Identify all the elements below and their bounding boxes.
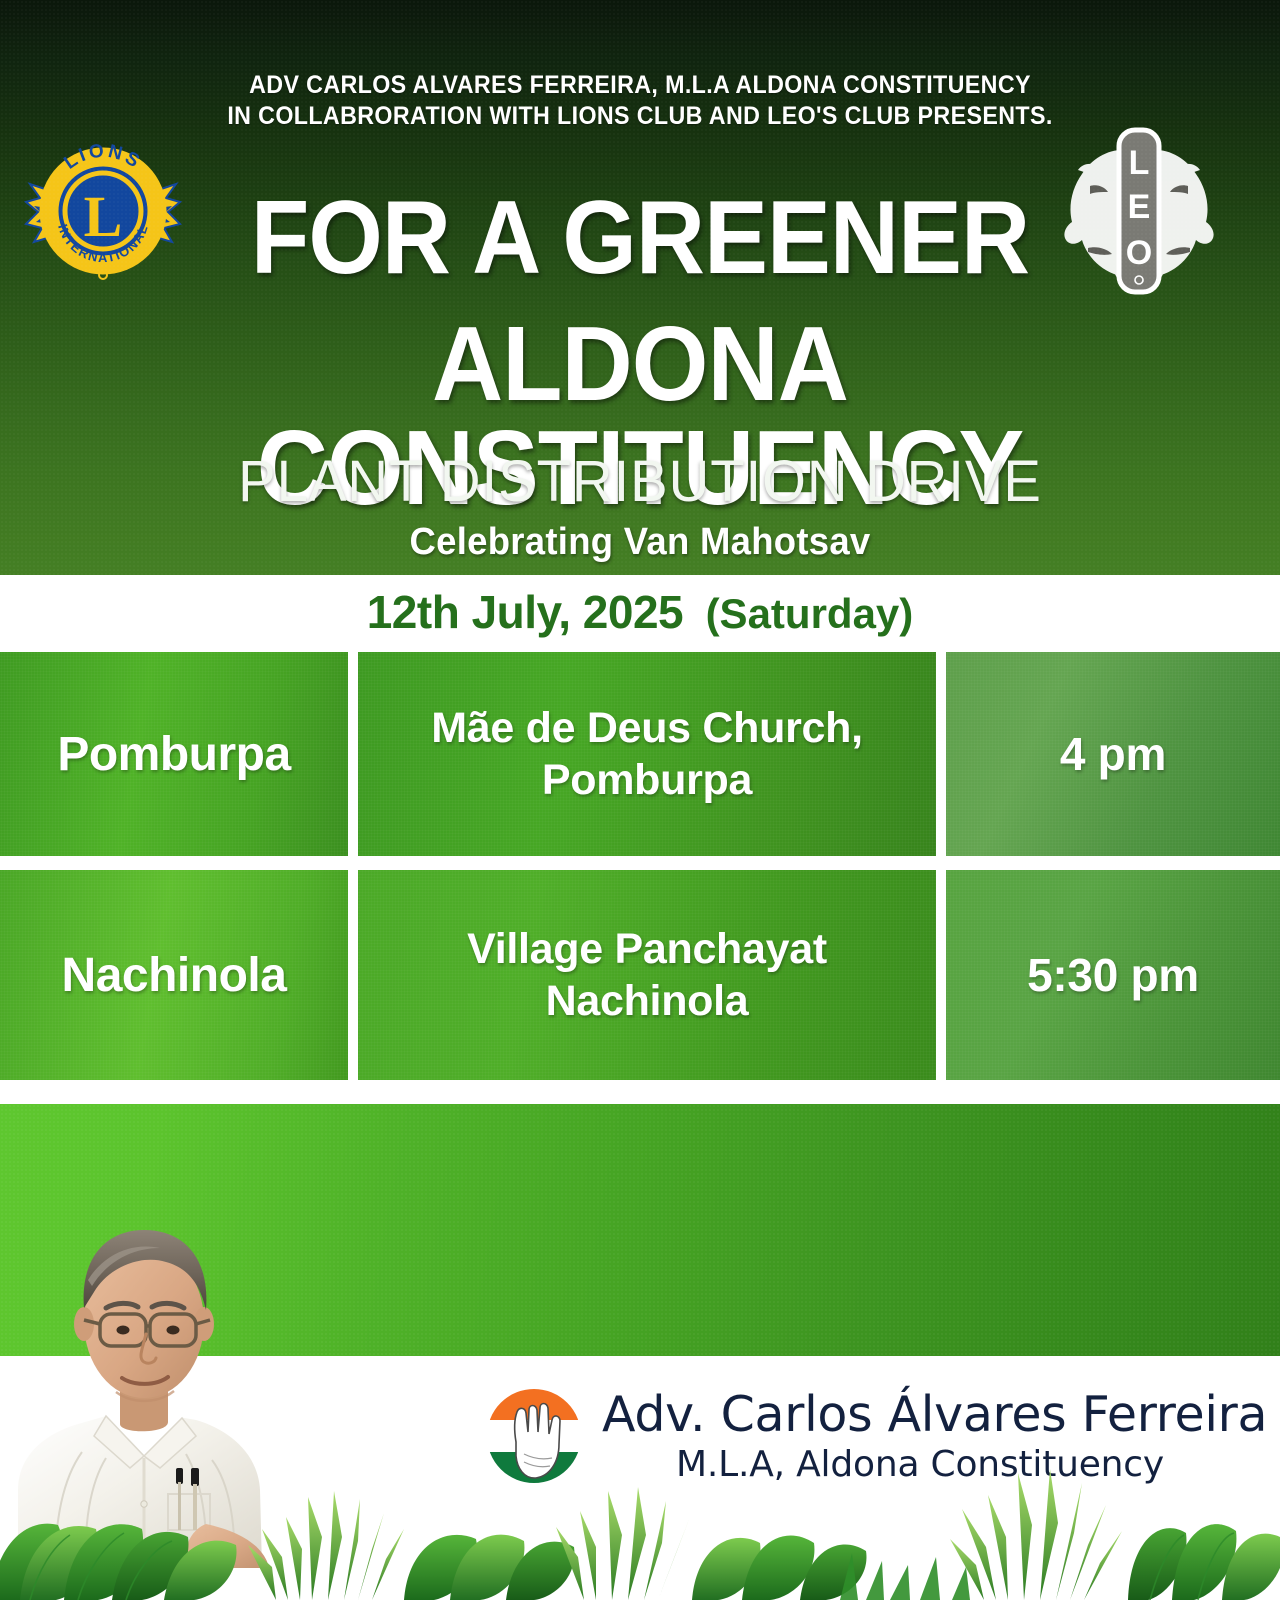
cell-time: 4 pm (946, 652, 1280, 856)
cell-venue: Village Panchayat Nachinola (358, 870, 936, 1080)
signature-block: Adv. Carlos Álvares Ferreira M.L.A, Aldo… (480, 1378, 1180, 1508)
cell-place: Nachinola (0, 870, 348, 1080)
title-line-1: FOR A GREENER (51, 186, 1229, 290)
cell-venue: Mãe de Deus Church, Pomburpa (358, 652, 936, 856)
cell-time: 5:30 pm (946, 870, 1280, 1080)
presenter-line: ADV CARLOS ALVARES FERREIRA, M.L.A ALDON… (45, 70, 1235, 132)
cell-venue-line-2: Pomburpa (431, 754, 863, 806)
table-row: Pomburpa Mãe de Deus Church, Pomburpa 4 … (0, 652, 1280, 856)
svg-text:L: L (1129, 144, 1150, 182)
event-day: (Saturday) (706, 590, 914, 637)
event-date: 12th July, 2025 (367, 586, 683, 638)
mla-portrait-photo (10, 1168, 280, 1568)
cell-venue-line-1: Village Panchayat (467, 923, 827, 975)
schedule-table: Pomburpa Mãe de Deus Church, Pomburpa 4 … (0, 652, 1280, 1080)
poster-tagline: Celebrating Van Mahotsav (26, 521, 1255, 564)
event-date-row: 12th July, 2025 (Saturday) (0, 585, 1280, 639)
cell-venue-line-2: Nachinola (467, 975, 827, 1027)
signature-name: Adv. Carlos Álvares Ferreira (602, 1386, 1267, 1443)
signature-role: M.L.A, Aldona Constituency (676, 1444, 1164, 1485)
poster-subtitle: PLANT DISTRIBUTION DRIVE (19, 452, 1261, 512)
indian-national-congress-logo (480, 1380, 588, 1492)
cell-place: Pomburpa (0, 652, 348, 856)
table-row: Nachinola Village Panchayat Nachinola 5:… (0, 870, 1280, 1080)
poster-header: ADV CARLOS ALVARES FERREIRA, M.L.A ALDON… (0, 0, 1280, 575)
cell-venue-line-1: Mãe de Deus Church, (431, 702, 863, 754)
